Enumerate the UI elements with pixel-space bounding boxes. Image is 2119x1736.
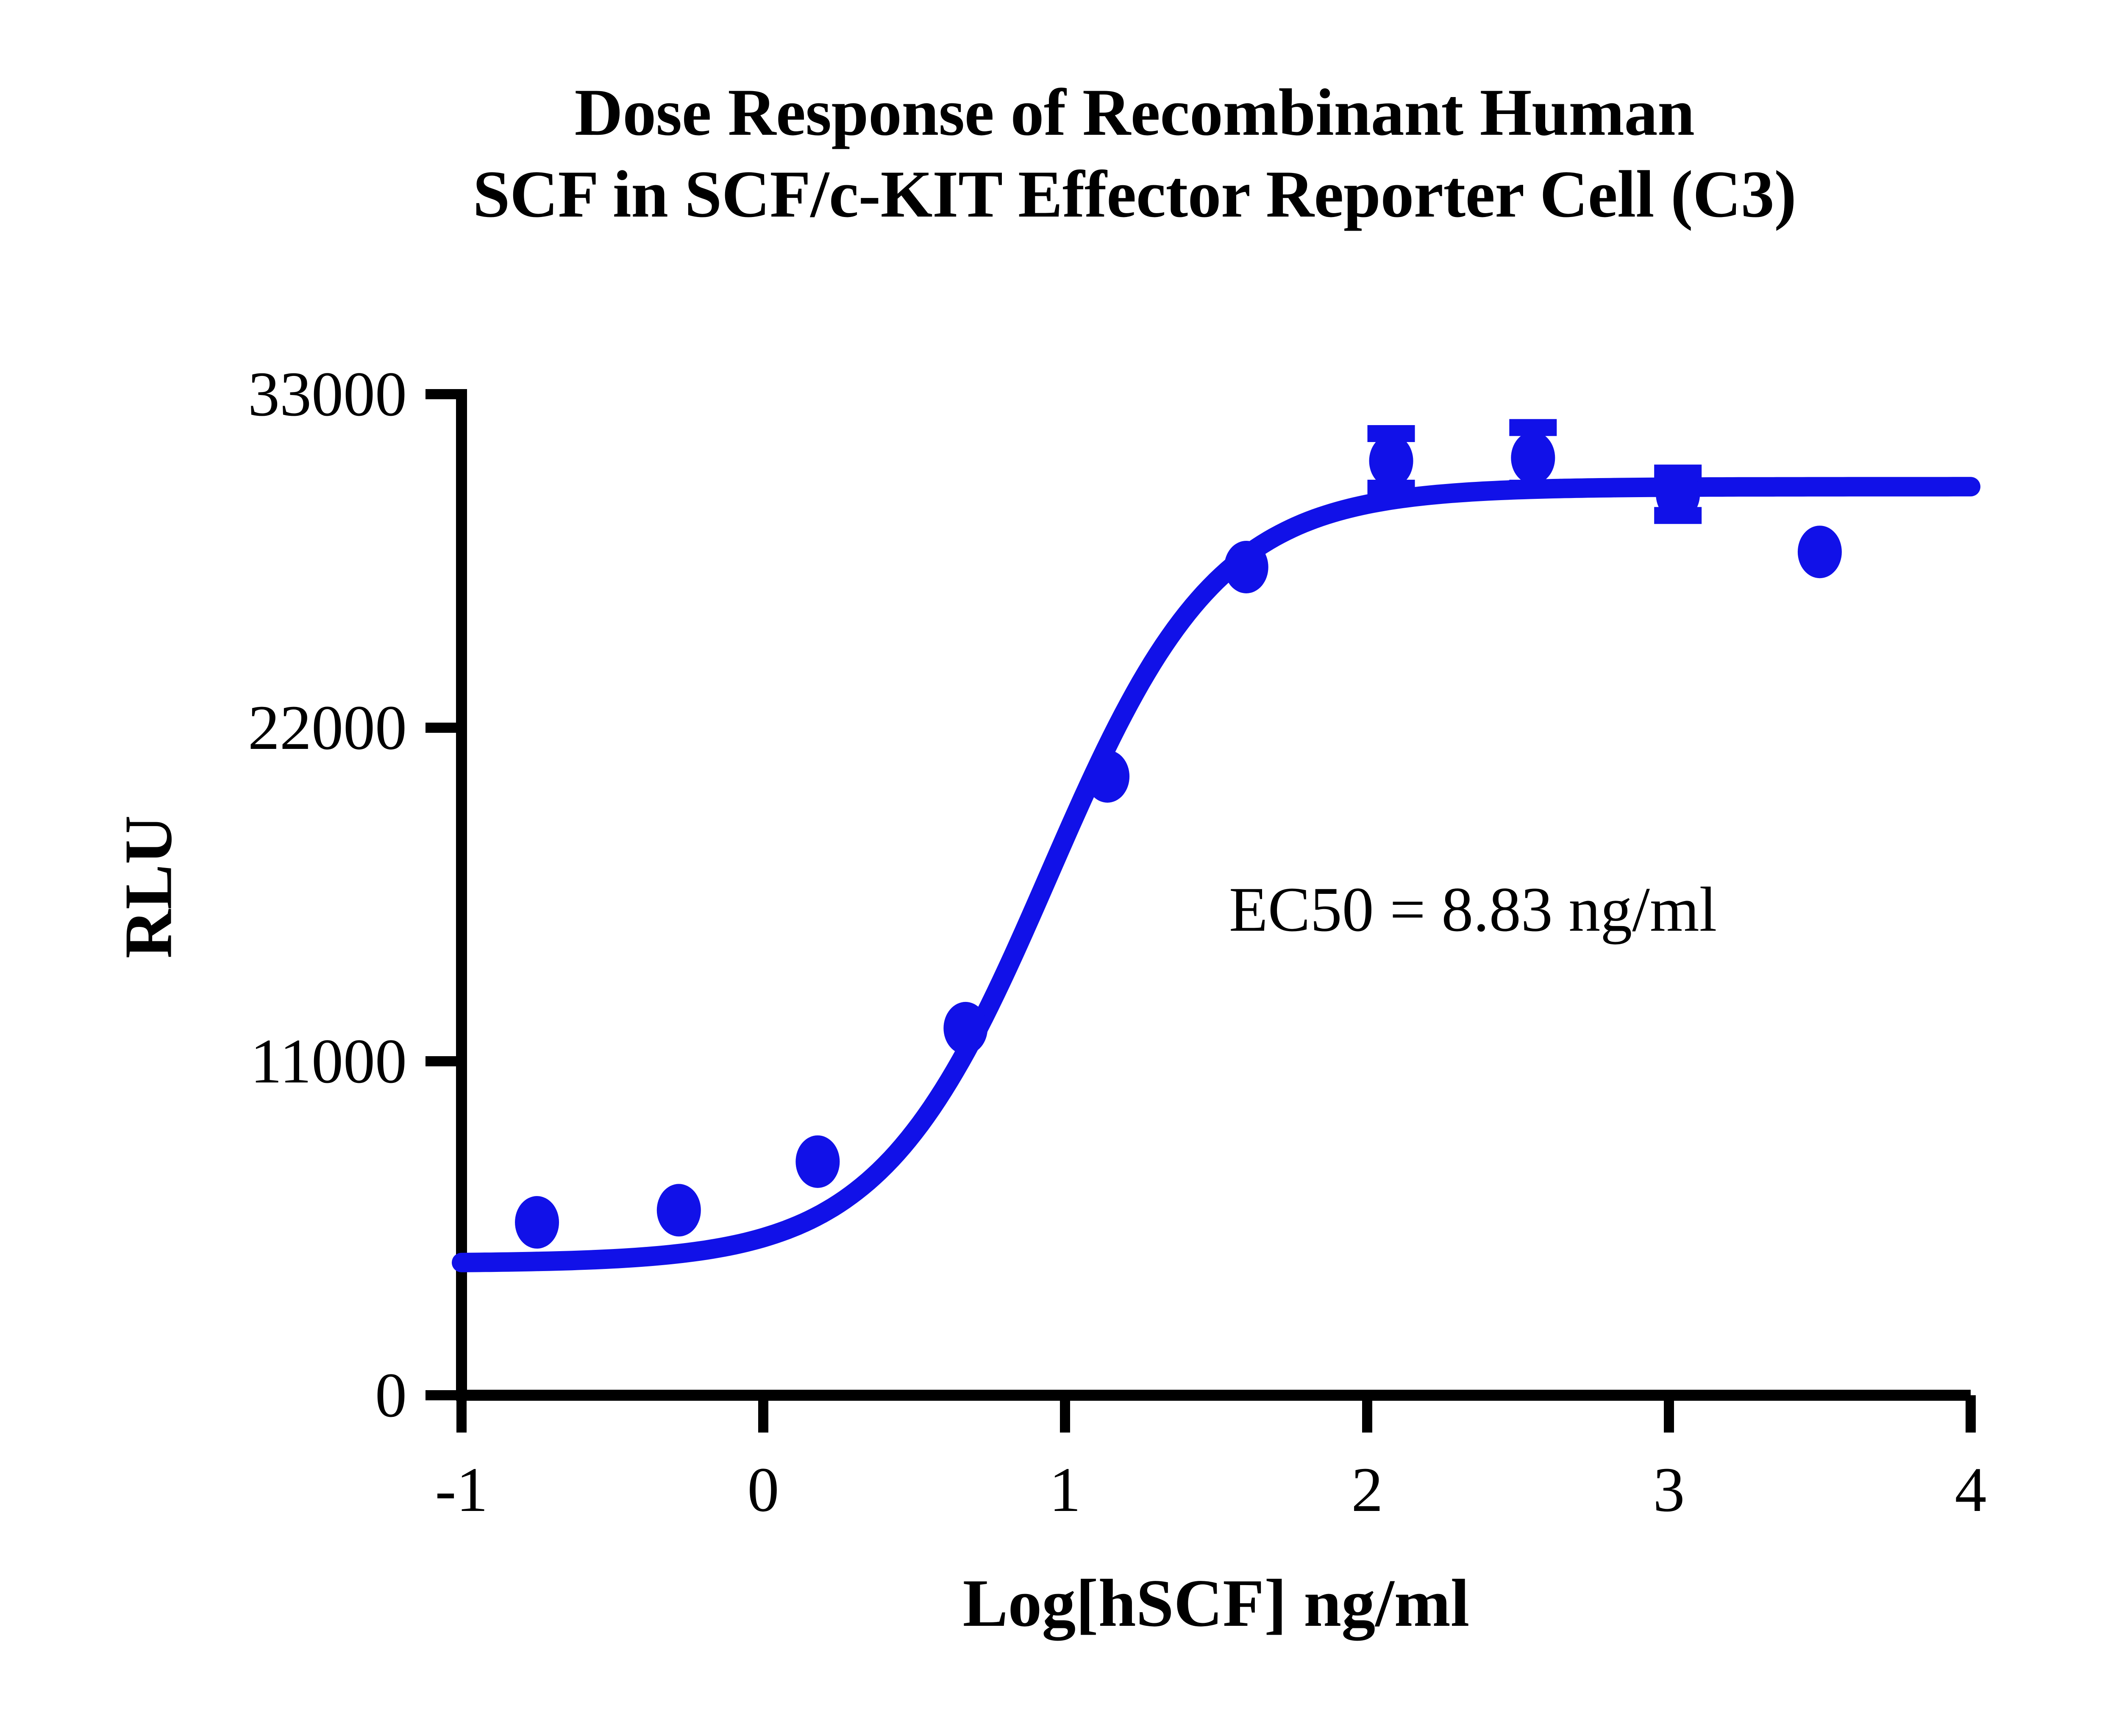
y-axis-title: RLU bbox=[109, 790, 188, 985]
data-point-marker bbox=[1085, 750, 1129, 803]
x-tick-label-3: 3 bbox=[1653, 1458, 1685, 1522]
data-point-marker bbox=[1511, 431, 1555, 484]
x-tick-label--1: -1 bbox=[435, 1458, 488, 1522]
x-tick-marks bbox=[462, 1395, 1971, 1433]
y-tick-label-11000: 11000 bbox=[203, 1029, 407, 1093]
x-tick-label-4: 4 bbox=[1955, 1458, 1987, 1522]
data-point-marker bbox=[1369, 434, 1413, 487]
x-tick-label-0: 0 bbox=[748, 1458, 779, 1522]
x-tick-label-2: 2 bbox=[1351, 1458, 1383, 1522]
x-tick-label-1: 1 bbox=[1049, 1458, 1081, 1522]
y-tick-label-33000: 33000 bbox=[203, 362, 407, 426]
data-point-marker bbox=[795, 1135, 840, 1188]
data-point-marker bbox=[943, 1002, 987, 1054]
data-point-marker bbox=[657, 1184, 701, 1236]
ec50-annotation: EC50 = 8.83 ng/ml bbox=[1229, 873, 1717, 946]
y-tick-label-0: 0 bbox=[203, 1363, 407, 1427]
y-tick-label-22000: 22000 bbox=[203, 696, 407, 759]
data-point-marker bbox=[1224, 541, 1268, 593]
data-point-marker bbox=[515, 1196, 559, 1249]
x-axis-title: Log[hSCF] ng/ml bbox=[462, 1564, 1971, 1642]
data-point-marker bbox=[1798, 526, 1842, 578]
data-point-group bbox=[515, 431, 1842, 1249]
data-point-marker bbox=[1656, 468, 1700, 520]
chart-figure: Dose Response of Recombinant Human SCF i… bbox=[0, 0, 2119, 1736]
fit-curve-line bbox=[462, 487, 1971, 1263]
